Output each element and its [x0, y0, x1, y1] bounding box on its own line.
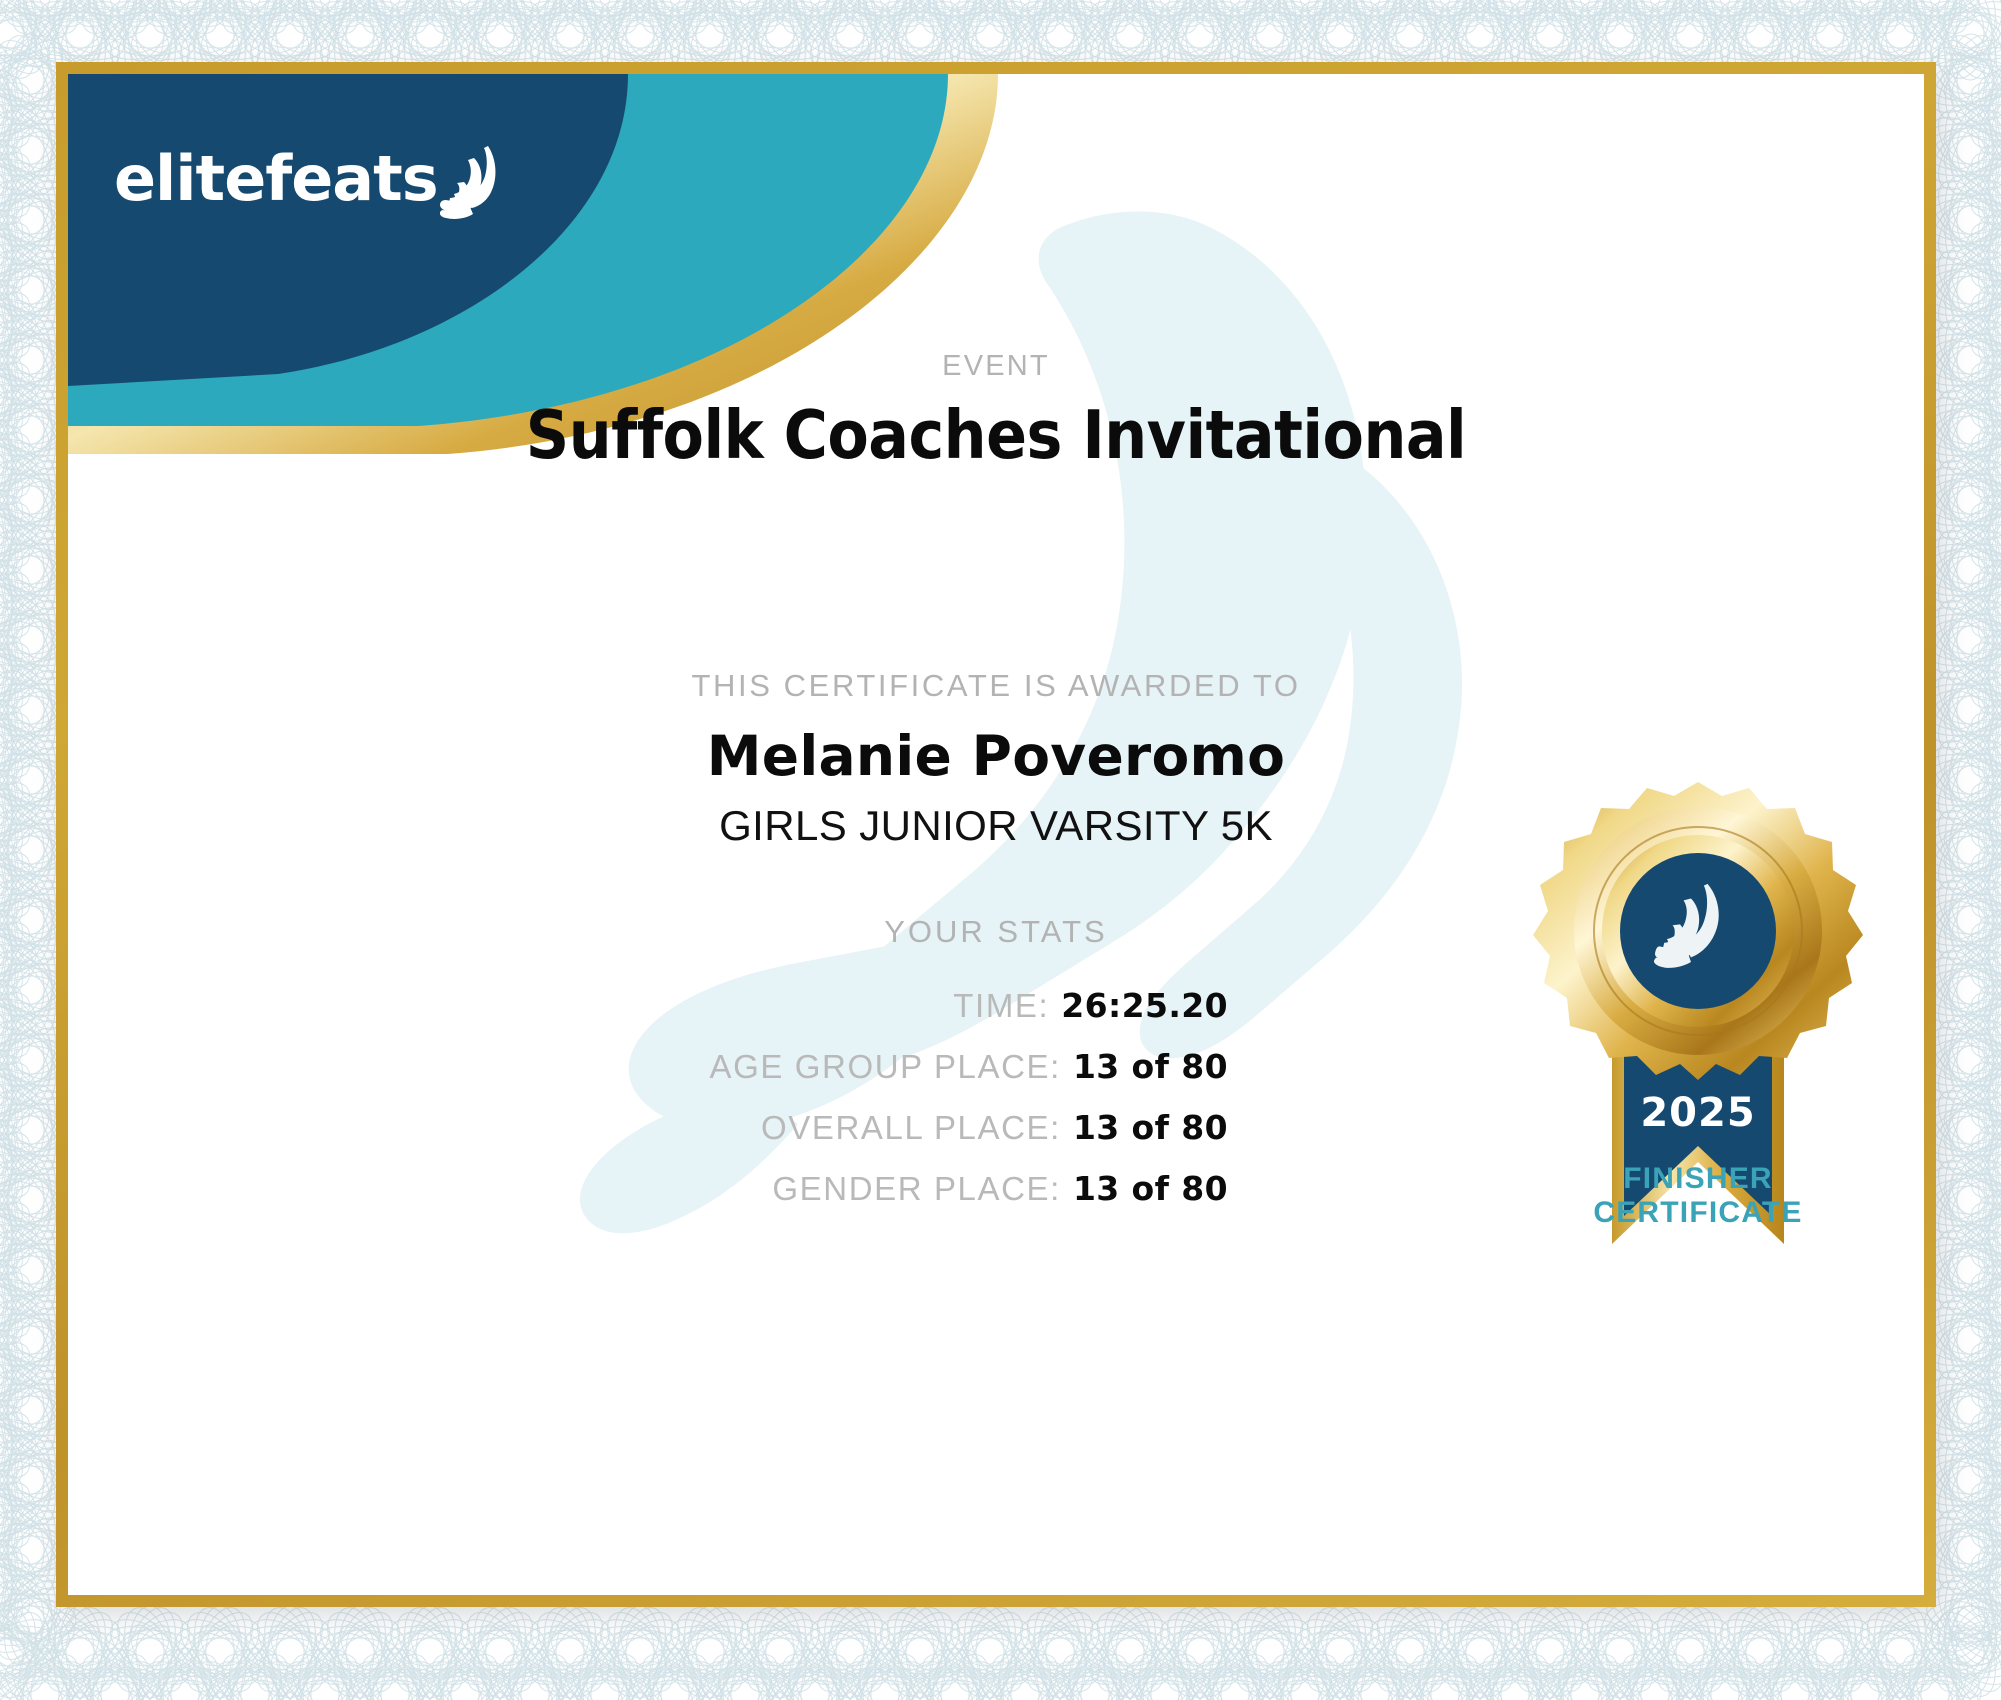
stat-row-age-group-place: AGE GROUP PLACE: 13 of 80 — [68, 1047, 1228, 1086]
stat-value: 26:25.20 — [1061, 986, 1228, 1025]
awarded-to-label: THIS CERTIFICATE IS AWARDED TO — [68, 668, 1924, 704]
stat-key: TIME: — [953, 987, 1049, 1025]
caption-line-1: FINISHER — [1508, 1162, 1888, 1196]
stat-value: 13 of 80 — [1073, 1108, 1228, 1147]
event-title: Suffolk Coaches Invitational — [68, 396, 1924, 474]
stat-row-gender-place: GENDER PLACE: 13 of 80 — [68, 1169, 1228, 1208]
stat-key: GENDER PLACE: — [772, 1170, 1061, 1208]
caption-line-2: CERTIFICATE — [1508, 1196, 1888, 1230]
certificate-content: EVENT Suffolk Coaches Invitational THIS … — [68, 74, 1924, 1595]
certificate-card: elitefeats EVENT Suffolk Coaches Invitat… — [68, 74, 1924, 1595]
event-label: EVENT — [68, 350, 1924, 383]
stat-value: 13 of 80 — [1073, 1047, 1228, 1086]
stat-value: 13 of 80 — [1073, 1169, 1228, 1208]
medal-year: 2025 — [1640, 1090, 1755, 1136]
stat-row-overall-place: OVERALL PLACE: 13 of 80 — [68, 1108, 1228, 1147]
certificate-page: elitefeats EVENT Suffolk Coaches Invitat… — [0, 0, 2001, 1700]
stats-list: TIME: 26:25.20 AGE GROUP PLACE: 13 of 80… — [68, 986, 1228, 1230]
stat-row-time: TIME: 26:25.20 — [68, 986, 1228, 1025]
finisher-certificate-caption: FINISHER CERTIFICATE — [1508, 1162, 1888, 1230]
stat-key: AGE GROUP PLACE: — [710, 1048, 1061, 1086]
gold-frame-border: elitefeats EVENT Suffolk Coaches Invitat… — [56, 62, 1936, 1607]
stat-key: OVERALL PLACE: — [761, 1109, 1061, 1147]
medal-center-disc — [1620, 853, 1776, 1009]
